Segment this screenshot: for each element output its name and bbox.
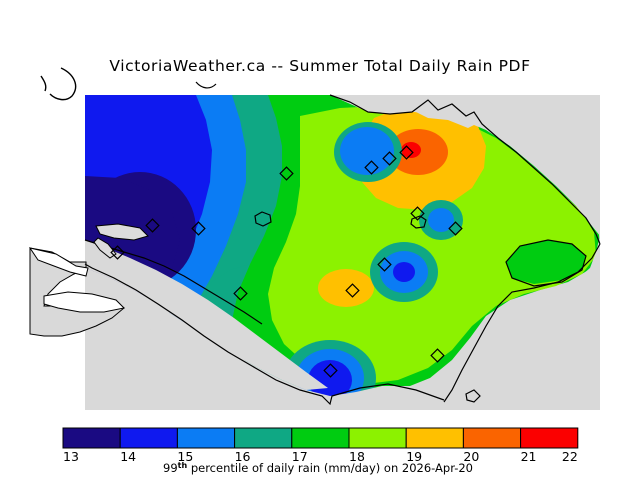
screenshot-root: VictoriaWeather.ca -- Summer Total Daily… <box>0 0 640 480</box>
caption-superscript: th <box>178 461 188 470</box>
colorbar-caption: 99th percentile of daily rain (mm/day) o… <box>163 461 473 475</box>
colorbar: 13 14 15 16 17 18 19 20 21 22 99th perce… <box>0 0 640 480</box>
colorbar-band-18-19[interactable] <box>349 428 406 448</box>
colorbar-tick-21: 21 <box>521 449 537 464</box>
colorbar-band-17-18[interactable] <box>292 428 349 448</box>
colorbar-bands <box>63 428 578 448</box>
colorbar-band-15-16[interactable] <box>177 428 234 448</box>
colorbar-band-19-20[interactable] <box>406 428 463 448</box>
colorbar-band-13-14[interactable] <box>63 428 120 448</box>
colorbar-caption-text: 99th percentile of daily rain (mm/day) o… <box>163 461 473 475</box>
colorbar-band-16-17[interactable] <box>235 428 292 448</box>
caption-prefix: 99 <box>163 461 178 475</box>
colorbar-band-20-21[interactable] <box>463 428 520 448</box>
colorbar-tick-14: 14 <box>120 449 136 464</box>
colorbar-band-21-22[interactable] <box>521 428 578 448</box>
caption-rest: percentile of daily rain (mm/day) on 202… <box>187 461 473 475</box>
colorbar-tick-13: 13 <box>63 449 79 464</box>
colorbar-band-14-15[interactable] <box>120 428 177 448</box>
colorbar-tick-22: 22 <box>562 449 578 464</box>
